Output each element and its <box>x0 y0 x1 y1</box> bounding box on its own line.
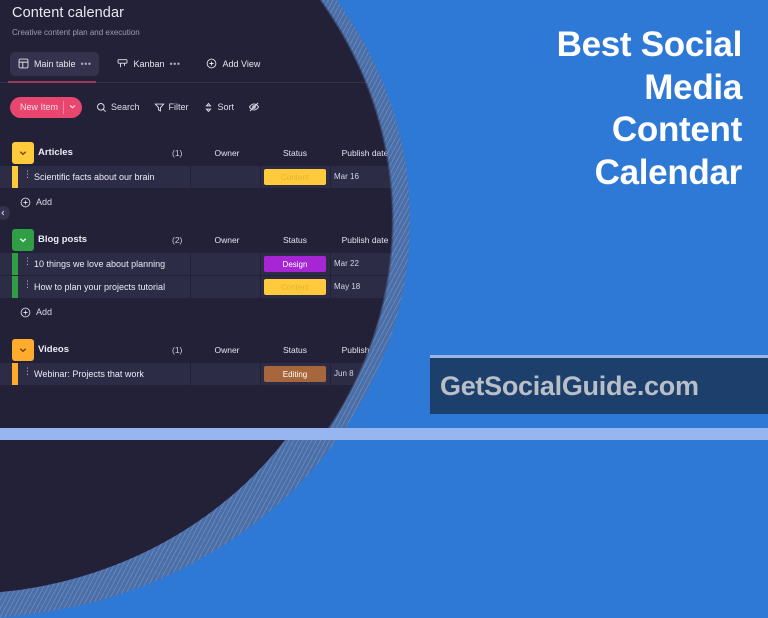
row-menu-icon[interactable]: ⋮ <box>23 368 32 374</box>
headline-line-4: Calendar <box>430 152 742 195</box>
tab-kanban-menu[interactable]: ••• <box>170 59 181 69</box>
site-name-banner: GetSocialGuide.com <box>430 358 768 414</box>
column-header-owner[interactable]: Owner <box>192 148 262 158</box>
sort-button[interactable]: Sort <box>203 102 235 113</box>
cell-divider <box>260 363 261 385</box>
status-badge[interactable]: Design <box>264 256 326 272</box>
cell-divider <box>330 166 331 188</box>
new-item-button[interactable]: New Item <box>10 97 82 118</box>
new-item-label: New Item <box>20 102 58 112</box>
column-header-owner[interactable]: Owner <box>192 345 262 355</box>
publish-date[interactable]: Jun 8 <box>334 369 354 378</box>
table-row[interactable]: ⋮ Scientific facts about our brain Conte… <box>0 166 416 189</box>
group-count: (2) <box>172 235 182 245</box>
table-icon <box>18 58 29 71</box>
status-badge[interactable]: Content <box>264 169 326 185</box>
row-title: Webinar: Projects that work <box>34 369 144 379</box>
tab-kanban[interactable]: Kanban ••• <box>109 52 188 76</box>
group-count: (1) <box>172 148 182 158</box>
cell-divider <box>260 253 261 275</box>
group-header-articles[interactable]: Articles (1) Owner Status Publish date <box>0 140 416 166</box>
promo-headline: Best Social Media Content Calendar <box>430 24 756 195</box>
group-collapse-swatch[interactable] <box>12 339 34 361</box>
cell-divider <box>260 276 261 298</box>
plus-circle-icon <box>20 305 31 323</box>
publish-date[interactable]: Mar 22 <box>334 259 359 268</box>
cell-divider <box>330 276 331 298</box>
table-row[interactable]: ⋮ 10 things we love about planning Desig… <box>0 253 416 276</box>
add-item-articles[interactable]: Add <box>0 189 416 215</box>
cell-divider <box>260 166 261 188</box>
row-title: 10 things we love about planning <box>34 259 165 269</box>
table-row[interactable]: ⋮ How to plan your projects tutorial Con… <box>0 276 416 299</box>
row-menu-icon[interactable]: ⋮ <box>23 281 32 287</box>
cell-divider <box>190 253 191 275</box>
row-color-bar <box>12 363 18 385</box>
page-title: Content calendar <box>12 5 124 21</box>
site-name-label: GetSocialGuide.com <box>440 371 699 402</box>
group-name: Videos <box>38 344 69 355</box>
search-button[interactable]: Search <box>96 102 140 113</box>
status-badge[interactable]: Editing <box>264 366 326 382</box>
app-screenshot-panel: Content calendar Creative content plan a… <box>0 0 416 428</box>
group-header-blog-posts[interactable]: Blog posts (2) Owner Status Publish date <box>0 227 416 253</box>
row-color-bar <box>12 276 18 298</box>
row-color-bar <box>12 253 18 275</box>
tab-kanban-label: Kanban <box>133 59 164 69</box>
group-header-videos[interactable]: Videos (1) Owner Status Publish date <box>0 337 416 363</box>
edge-status-chip[interactable] <box>404 169 416 185</box>
plus-circle-icon <box>206 58 217 71</box>
headline-line-2: Media <box>430 67 742 110</box>
content-table: Articles (1) Owner Status Publish date ⋮… <box>0 140 416 386</box>
column-header-status[interactable]: Status <box>260 345 330 355</box>
bottom-accent-strip <box>0 428 768 440</box>
tab-main-table-menu[interactable]: ••• <box>81 59 92 69</box>
column-header-owner[interactable]: Owner <box>192 235 262 245</box>
sort-label: Sort <box>218 102 235 112</box>
chevron-down-icon[interactable] <box>69 102 76 112</box>
row-menu-icon[interactable]: ⋮ <box>23 258 32 264</box>
column-header-status[interactable]: Status <box>260 235 330 245</box>
group-name: Articles <box>38 147 73 158</box>
group-collapse-swatch[interactable] <box>12 229 34 251</box>
add-view-label: Add View <box>222 59 260 69</box>
status-badge[interactable]: Content <box>264 279 326 295</box>
search-label: Search <box>111 102 140 112</box>
edge-status-chip[interactable] <box>404 279 416 295</box>
cell-divider <box>330 253 331 275</box>
headline-line-3: Content <box>430 109 742 152</box>
eye-off-icon <box>248 101 260 113</box>
edge-status-chip[interactable] <box>404 256 416 272</box>
add-label: Add <box>36 197 52 207</box>
add-view-button[interactable]: Add View <box>198 52 268 76</box>
cell-divider <box>190 166 191 188</box>
table-row[interactable]: ⋮ Webinar: Projects that work Editing Ju… <box>0 363 416 386</box>
kanban-icon <box>117 58 128 71</box>
cell-divider <box>190 363 191 385</box>
group-count: (1) <box>172 345 182 355</box>
new-item-divider <box>63 101 64 114</box>
plus-circle-icon <box>20 195 31 213</box>
column-header-date[interactable]: Publish date <box>330 345 400 355</box>
active-tab-underline <box>8 81 96 83</box>
tab-main-table[interactable]: Main table ••• <box>10 52 99 76</box>
column-header-date[interactable]: Publish date <box>330 235 400 245</box>
tab-main-table-label: Main table <box>34 59 76 69</box>
row-color-bar <box>12 166 18 188</box>
filter-icon <box>154 102 165 113</box>
publish-date[interactable]: May 18 <box>334 282 360 291</box>
sort-icon <box>203 102 214 113</box>
page-subtitle: Creative content plan and execution <box>12 28 140 37</box>
add-label: Add <box>36 307 52 317</box>
row-menu-icon[interactable]: ⋮ <box>23 171 32 177</box>
toolbar: New Item Search Filter <box>10 92 260 122</box>
group-collapse-swatch[interactable] <box>12 142 34 164</box>
row-title: Scientific facts about our brain <box>34 172 155 182</box>
edge-status-chip[interactable] <box>404 366 416 382</box>
column-header-date[interactable]: Publish date <box>330 148 400 158</box>
filter-label: Filter <box>169 102 189 112</box>
hide-columns-button[interactable] <box>248 101 260 113</box>
cell-divider <box>190 276 191 298</box>
cell-divider <box>330 363 331 385</box>
publish-date[interactable]: Mar 16 <box>334 172 359 181</box>
group-name: Blog posts <box>38 234 87 245</box>
search-icon <box>96 102 107 113</box>
add-item-blog-posts[interactable]: Add <box>0 299 416 325</box>
filter-button[interactable]: Filter <box>154 102 189 113</box>
row-title: How to plan your projects tutorial <box>34 282 165 292</box>
headline-line-1: Best Social <box>430 24 742 67</box>
view-tabs: Main table ••• Kanban ••• Add View <box>10 50 268 78</box>
column-header-status[interactable]: Status <box>260 148 330 158</box>
